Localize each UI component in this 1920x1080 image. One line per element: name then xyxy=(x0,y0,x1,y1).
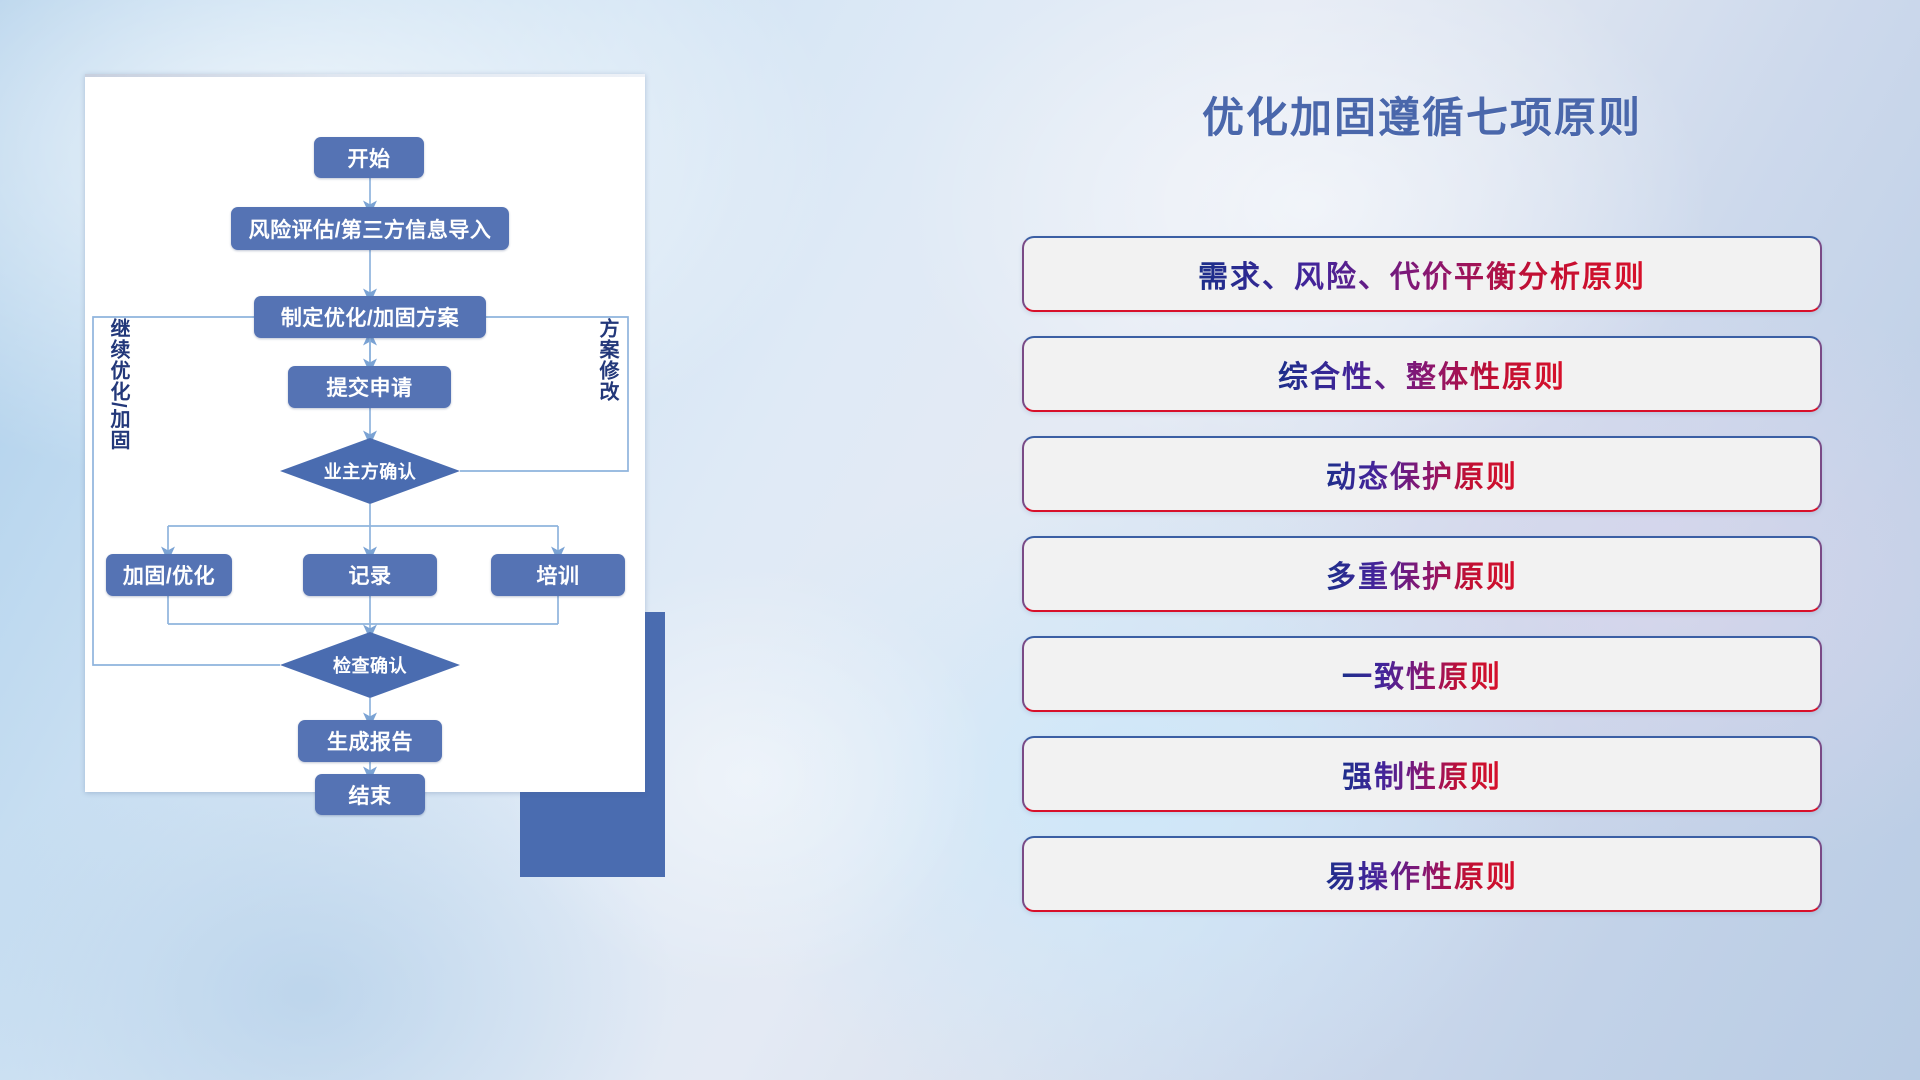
flow-edge-label-continue-optimize: 继续优化/加固 xyxy=(107,318,128,451)
flow-node-report-label: 生成报告 xyxy=(327,726,413,756)
principle-item-5-label: 一致性原则 xyxy=(1342,652,1502,696)
flow-node-start-label: 开始 xyxy=(348,143,391,173)
flow-node-risk-assessment[interactable]: 风险评估/第三方信息导入 xyxy=(231,207,509,250)
flow-node-training-label: 培训 xyxy=(537,560,580,590)
flow-node-check-confirm-label: 检查确认 xyxy=(333,652,407,678)
flow-node-reinforce[interactable]: 加固/优化 xyxy=(106,554,232,596)
flow-node-record-label: 记录 xyxy=(349,560,392,590)
flow-edge-label-plan-revision: 方案修改 xyxy=(596,318,617,402)
principle-item-4[interactable]: 多重保护原则 xyxy=(1022,536,1822,612)
flow-node-submit-label: 提交申请 xyxy=(327,372,413,402)
principle-item-2-label: 综合性、整体性原则 xyxy=(1278,352,1566,396)
flow-node-training[interactable]: 培训 xyxy=(491,554,625,596)
flowchart-decision-shapes xyxy=(85,74,645,792)
principle-item-2[interactable]: 综合性、整体性原则 xyxy=(1022,336,1822,412)
principle-item-5[interactable]: 一致性原则 xyxy=(1022,636,1822,712)
principle-item-4-label: 多重保护原则 xyxy=(1326,552,1518,596)
flowchart-card: 开始 风险评估/第三方信息导入 制定优化/加固方案 提交申请 业主方确认 加固/… xyxy=(85,74,645,792)
flow-node-record[interactable]: 记录 xyxy=(303,554,437,596)
principle-item-6-label: 强制性原则 xyxy=(1342,752,1502,796)
flowchart-panel: 开始 风险评估/第三方信息导入 制定优化/加固方案 提交申请 业主方确认 加固/… xyxy=(85,74,685,814)
flow-node-submit[interactable]: 提交申请 xyxy=(288,366,451,408)
flow-node-risk-assessment-label: 风险评估/第三方信息导入 xyxy=(249,214,492,244)
principle-item-6[interactable]: 强制性原则 xyxy=(1022,736,1822,812)
flow-node-report[interactable]: 生成报告 xyxy=(298,720,442,762)
flow-node-end[interactable]: 结束 xyxy=(315,774,425,815)
principle-item-3-label: 动态保护原则 xyxy=(1326,452,1518,496)
principles-list: 需求、风险、代价平衡分析原则 综合性、整体性原则 动态保护原则 多重保护原则 一… xyxy=(1022,236,1822,936)
flow-node-check-confirm[interactable]: 检查确认 xyxy=(290,646,450,684)
flow-node-owner-confirm[interactable]: 业主方确认 xyxy=(280,452,460,490)
principle-item-1-label: 需求、风险、代价平衡分析原则 xyxy=(1198,252,1646,296)
flow-node-reinforce-label: 加固/优化 xyxy=(123,560,215,590)
flow-node-start[interactable]: 开始 xyxy=(314,137,424,178)
flow-node-owner-confirm-label: 业主方确认 xyxy=(324,458,417,484)
principle-item-1[interactable]: 需求、风险、代价平衡分析原则 xyxy=(1022,236,1822,312)
flow-node-plan-label: 制定优化/加固方案 xyxy=(281,302,459,332)
flow-node-plan[interactable]: 制定优化/加固方案 xyxy=(254,296,486,338)
principles-panel: 优化加固遵循七项原则 需求、风险、代价平衡分析原则 综合性、整体性原则 动态保护… xyxy=(1022,84,1822,1004)
principle-item-3[interactable]: 动态保护原则 xyxy=(1022,436,1822,512)
flow-node-end-label: 结束 xyxy=(349,780,392,810)
principles-title: 优化加固遵循七项原则 xyxy=(1022,84,1822,145)
principle-item-7-label: 易操作性原则 xyxy=(1326,852,1518,896)
principle-item-7[interactable]: 易操作性原则 xyxy=(1022,836,1822,912)
